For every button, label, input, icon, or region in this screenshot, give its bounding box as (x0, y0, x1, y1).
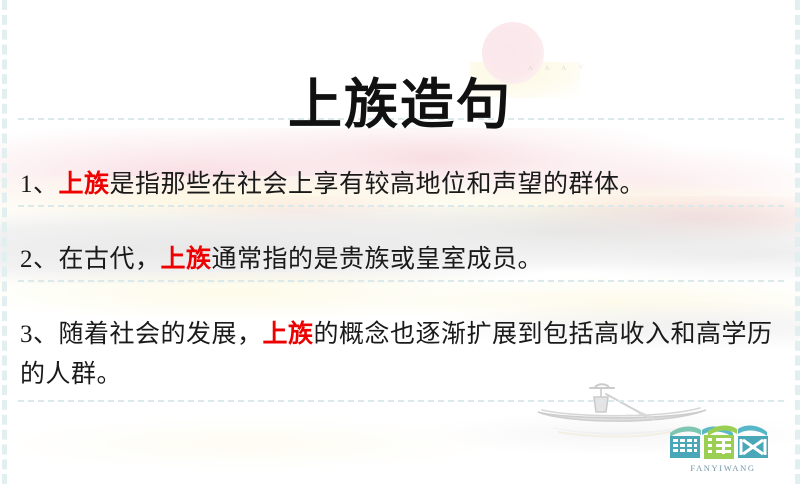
keyword-highlight-1: 上族 (59, 171, 110, 198)
site-watermark-logo[interactable]: FANYIWANG (664, 422, 782, 474)
logo-caption: FANYIWANG (664, 463, 782, 473)
keyword-highlight-3: 上族 (263, 321, 314, 348)
sentence-after-1: 是指那些在社会上享有较高地位和声望的群体。 (110, 171, 646, 198)
sentence-item-2: 2、在古代，上族通常指的是贵族或皇室成员。 (20, 240, 782, 280)
sentence-item-1: 1、上族是指那些在社会上享有较高地位和声望的群体。 (20, 165, 782, 205)
slide-canvas: ʌ ʌ ʌ ˅ 上族造句 (0, 0, 800, 484)
page-title: 上族造句 (0, 60, 800, 139)
sentence-after-2: 通常指的是贵族或皇室成员。 (212, 246, 544, 273)
sentence-item-3: 3、随着社会的发展，上族的概念也逐渐扩展到包括高收入和高学历的人群。 (20, 315, 782, 395)
fanyiwang-logo-icon (664, 422, 782, 462)
sentence-index-2: 2、 (20, 246, 59, 273)
sentence-index-3: 3、 (20, 321, 59, 348)
sentence-index-1: 1、 (20, 171, 59, 198)
sentence-before-2: 在古代， (59, 246, 161, 273)
content-area: 上族造句 1、上族是指那些在社会上享有较高地位和声望的群体。 2、在古代，上族通… (0, 0, 800, 484)
keyword-highlight-2: 上族 (161, 246, 212, 273)
sentence-before-3: 随着社会的发展， (59, 321, 263, 348)
